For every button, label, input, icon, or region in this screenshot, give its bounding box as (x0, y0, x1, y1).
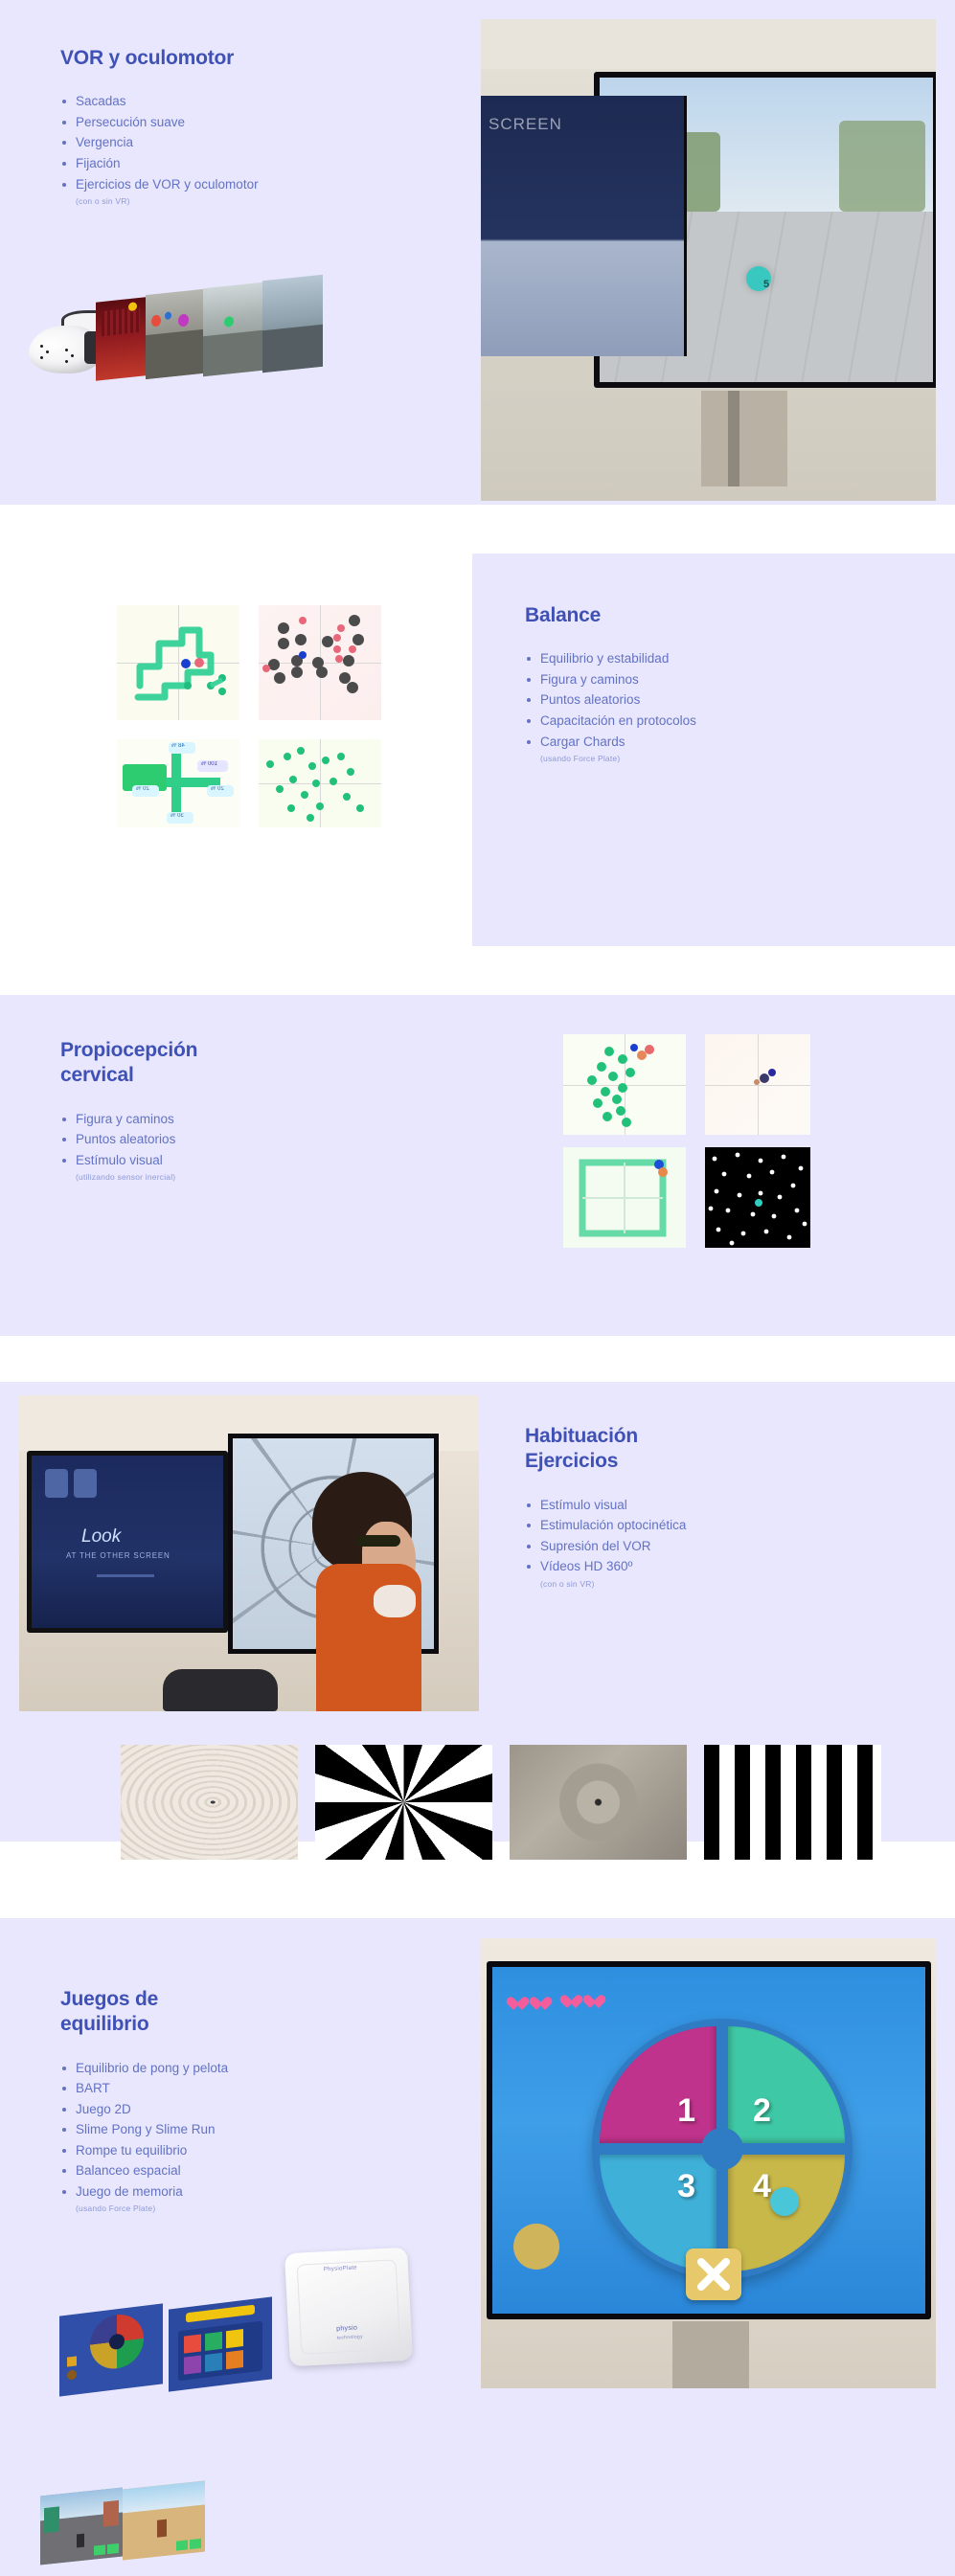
tv-monitor-photo: 5 SCREEN (481, 19, 936, 501)
cross-label-top: 48 % (171, 743, 185, 749)
list-item: Estimulación optocinética (525, 1516, 736, 1535)
list-item: BART (60, 2079, 252, 2098)
section-note: (usando Force Plate) (540, 754, 736, 763)
quadrant-number: 3 (677, 2168, 695, 2205)
text-column-5: Juegos de equilibrio Equilibrio de pong … (60, 1987, 252, 2213)
list-item: Estímulo visual (525, 1496, 736, 1515)
black-white-spiral-pattern (315, 1745, 492, 1860)
figure-paths-maze-plot (117, 605, 239, 720)
strip-tile-cinema (96, 297, 146, 380)
bottom-tile-desert-runner (123, 2480, 205, 2560)
list-item: Ejercicios de VOR y oculomotor (60, 175, 261, 194)
patient-monitor-photo: Look AT THE OTHER SCREEN (19, 1395, 479, 1711)
text-column-3: Propiocepción cervical Figura y caminos … (60, 1038, 252, 1182)
cross-label-left: 20 % (136, 786, 149, 792)
section-title: Propiocepción cervical (60, 1038, 252, 1089)
tv-game-photo: 1 2 3 4 (481, 1938, 936, 2388)
screen-overlay-sub: AT THE OTHER SCREEN (66, 1551, 171, 1560)
text-column-2: Balance Equilibrio y estabilidad Figura … (525, 603, 736, 763)
list-item: Fijación (60, 154, 261, 173)
bottom-tile-city-bike (40, 2487, 123, 2565)
vertical-stripes-pattern (704, 1745, 881, 1860)
force-plate-device: PhysioPlate physio technology (284, 2248, 413, 2367)
section-note: (usando Force Plate) (76, 2203, 252, 2213)
bullet-list: Equilibrio de pong y pelota BART Juego 2… (60, 2059, 252, 2202)
cross-label-right-upper: 100 % (201, 761, 217, 767)
list-item: Slime Pong y Slime Run (60, 2120, 252, 2139)
list-item: Balanceo espacial (60, 2161, 252, 2181)
list-item: Puntos aleatorios (525, 690, 736, 710)
section-note: (con o sin VR) (76, 196, 261, 206)
heart-icon (536, 1998, 552, 2011)
faint-cross-plot (705, 1034, 810, 1135)
list-item: Juego 2D (60, 2100, 252, 2119)
force-plate-brand: physio (336, 2325, 357, 2333)
heart-icon (513, 1998, 529, 2011)
strip-tile-road (262, 275, 323, 373)
green-points-radial-plot (259, 739, 381, 827)
quadrant-number: 4 (753, 2168, 771, 2205)
cross-label-bottom: 30 % (171, 813, 184, 819)
bullet-list: Equilibrio y estabilidad Figura y camino… (525, 649, 736, 751)
quadrant-number: 1 (677, 2092, 695, 2130)
game-tile-color-wheel (59, 2303, 163, 2396)
section-note: (utilizando sensor inercial) (76, 1172, 252, 1182)
green-points-scatter-plot (563, 1034, 686, 1135)
list-item: Vídeos HD 360º (525, 1557, 736, 1576)
screen-overlay-look: Look (81, 1526, 121, 1548)
list-item: Vergencia (60, 133, 261, 152)
bullet-list: Sacadas Persecución suave Vergencia Fija… (60, 92, 261, 193)
strip-tile-rooftop (203, 282, 262, 377)
white-dots-on-black-plot (705, 1147, 810, 1248)
section-title: VOR y oculomotor (60, 46, 261, 71)
list-item: Equilibrio de pong y pelota (60, 2059, 252, 2078)
text-column-4: Habituación Ejercicios Estímulo visual E… (525, 1424, 736, 1589)
text-column-1: VOR y oculomotor Sacadas Persecución sua… (60, 46, 261, 206)
game-tile-memory (169, 2296, 272, 2391)
list-item: Rompe tu equilibrio (60, 2141, 252, 2160)
section-title: Habituación Ejercicios (525, 1424, 736, 1475)
list-item: Cargar Chards (525, 733, 736, 752)
section-note: (con o sin VR) (540, 1579, 736, 1589)
bullet-list: Figura y caminos Puntos aleatorios Estím… (60, 1110, 252, 1170)
strip-tile-hangar (146, 289, 203, 379)
wood-rings-pattern (121, 1745, 298, 1860)
list-item: Estímulo visual (60, 1151, 252, 1170)
list-item: Figura y caminos (60, 1110, 252, 1129)
list-item: Supresión del VOR (525, 1537, 736, 1556)
cross-label-right: 20 % (211, 786, 224, 792)
heart-icon (567, 1996, 582, 2009)
screen-overlay-text: SCREEN (489, 115, 562, 134)
random-points-scatter-plot (259, 605, 381, 720)
marker-label: 5 (763, 279, 769, 290)
list-item: Figura y caminos (525, 670, 736, 689)
list-item: Equilibrio y estabilidad (525, 649, 736, 668)
list-item: Capacitación en protocolos (525, 712, 736, 731)
cross-target-plot: 48 % 100 % 20 % 20 % 30 % (117, 739, 239, 827)
stone-radial-pattern (510, 1745, 687, 1860)
quadrant-number: 2 (753, 2092, 771, 2130)
list-item: Persecución suave (60, 113, 261, 132)
list-item: Sacadas (60, 92, 261, 111)
section-title: Balance (525, 603, 736, 628)
section-title: Juegos de equilibrio (60, 1987, 252, 2038)
list-item: Juego de memoria (60, 2182, 252, 2202)
heart-icon (590, 1996, 605, 2009)
bullet-list: Estímulo visual Estimulación optocinétic… (525, 1496, 736, 1576)
square-path-plot (563, 1147, 686, 1248)
list-item: Puntos aleatorios (60, 1130, 252, 1149)
